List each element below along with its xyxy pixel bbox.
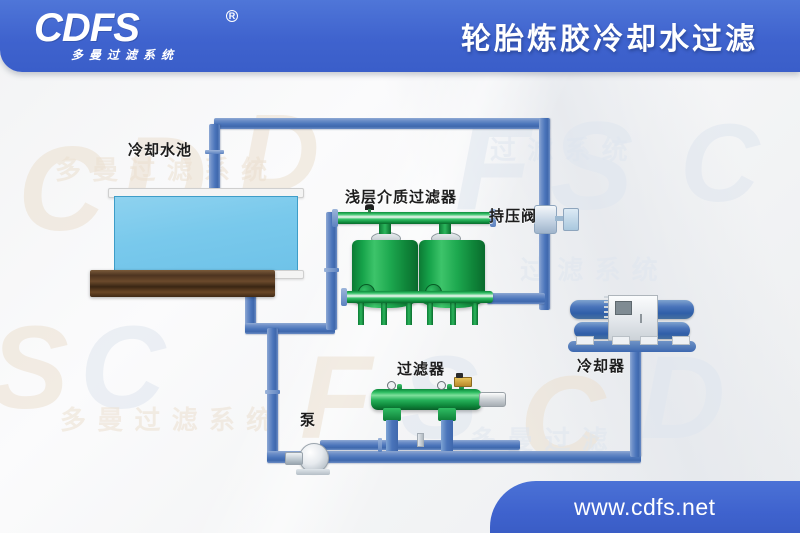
cooler-foot [612,336,630,345]
label-pump: 泵 [300,409,316,430]
filter-vessel [371,389,482,410]
label-media-filter: 浅层介质过滤器 [345,186,457,207]
pipe-flange [324,268,339,272]
cooler-fin [604,301,608,303]
watermark-text: 多 曼 过 滤 系 统 [60,400,274,437]
filter-gauge-right [437,381,446,390]
manifold-end-cap [332,209,338,227]
manifold-end-cap [341,288,347,306]
tank-neck-2 [439,224,451,234]
pipe-top-horizontal [214,118,550,129]
label-pressure-valve: 持压阀 [489,205,537,226]
tank-leg [450,302,456,325]
cooler-fin [604,306,608,308]
pressure-valve-body [534,205,557,234]
watermark-logo: C [80,300,167,436]
pipe-tank-outlet [487,293,545,304]
pipe-mid-horizontal [245,323,335,334]
pressure-valve-actuator [563,208,579,231]
label-filter: 过滤器 [397,358,445,379]
website-url[interactable]: www.cdfs.net [574,494,716,521]
filter-control-valve [454,377,472,387]
manifold-vent-stem [368,209,371,213]
diagram-canvas: C D F S S C F S C D D C 多 曼 过 滤 系 统 过 滤 … [0,0,800,533]
cooler-foot [672,336,690,345]
cooler-fin [604,311,608,313]
filter-motor [479,392,506,407]
tank-leg [358,302,364,325]
tank-bottom-manifold [345,291,493,303]
pump-baseplate [296,469,330,475]
tank-top-manifold [336,212,492,224]
page-footer: www.cdfs.net [490,481,800,533]
logo-wordmark: CDFS [34,8,234,48]
filter-nozzle [447,384,452,390]
cooler-foot [640,336,658,345]
cooler-fin [604,316,608,318]
filter-valve-cap [456,373,463,378]
pipe-flange [205,150,224,154]
pipe-flange [378,438,382,452]
label-cooler: 冷却器 [577,355,625,376]
cooler-foot [576,336,594,345]
filter-leg [441,420,453,451]
cooler-fin [604,296,608,298]
tank-leg [406,302,412,325]
page-title: 轮胎炼胶冷却水过滤 [461,14,758,58]
cooling-pool-water [114,196,298,274]
filter-nozzle [397,384,402,390]
cooler-unit [568,292,696,354]
cooler-cabinet-handle [640,314,642,323]
page-header: R CDFS 多曼过滤系统 轮胎炼胶冷却水过滤 [0,0,800,72]
registered-trademark-icon: R [226,10,238,22]
watermark-logo: S [0,300,71,436]
tank-leg [472,302,478,325]
label-cooling-pool: 冷却水池 [128,139,192,160]
filter-gauge-left [387,381,396,390]
tank-leg [381,302,387,325]
filter-leg [386,420,398,451]
cooling-pool-base [90,270,275,297]
filter-drain [417,433,424,447]
pump-suction-flange [285,452,303,465]
cooler-display-screen [615,301,632,315]
watermark-text: 过 滤 系 统 [490,130,630,167]
watermark-logo: C [18,120,107,258]
brand-logo: R CDFS 多曼过滤系统 [34,8,234,66]
tank-leg [427,302,433,325]
pipe-flange [265,390,280,394]
tank-neck-1 [379,224,391,234]
watermark-logo: C [680,100,761,227]
